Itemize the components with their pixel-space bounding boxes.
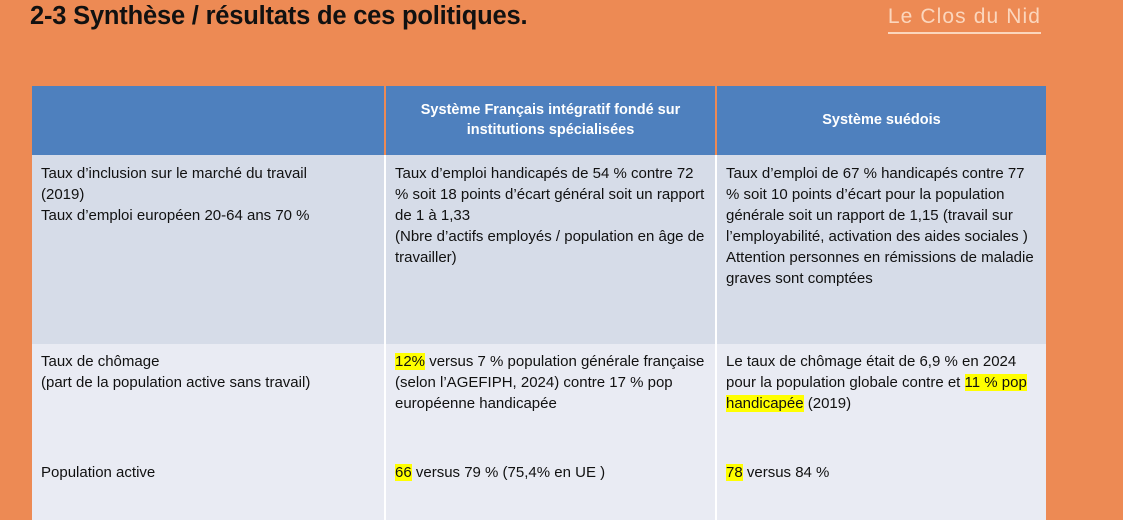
row1-label-line2: (2019) <box>41 184 374 205</box>
row2-french-cell: 12% versus 7 % population générale franç… <box>385 344 716 462</box>
header-cell-criteria <box>32 86 385 155</box>
row2-label-line1: Taux de chômage <box>41 351 374 372</box>
header-french-line2: institutions spécialisées <box>400 121 701 141</box>
row1-swedish-text: Taux d’emploi de 67 % handicapés contre … <box>726 163 1036 247</box>
table-row: Taux de chômage (part de la population a… <box>32 344 1046 462</box>
page-title: 2-3 Synthèse / résultats de ces politiqu… <box>30 2 527 31</box>
logo-text: Le Clos du Nid <box>888 4 1041 30</box>
header-french-line1: Système Français intégratif fondé sur <box>400 101 701 121</box>
row1-french-text: Taux d’emploi handicapés de 54 % contre … <box>395 163 705 226</box>
logo-underline <box>888 32 1041 34</box>
header-cell-swedish-system: Système suédois <box>716 86 1046 155</box>
row2-french-rest: versus 7 % population générale française… <box>395 353 704 412</box>
header-cell-french-system: Système Français intégratif fondé sur in… <box>385 86 716 155</box>
row1-swedish-cell: Taux d’emploi de 67 % handicapés contre … <box>716 155 1046 344</box>
row2-swedish-cell: Le taux de chômage était de 6,9 % en 202… <box>716 344 1046 462</box>
table-header-row: Système Français intégratif fondé sur in… <box>32 86 1046 155</box>
table-row: Taux d’inclusion sur le marché du travai… <box>32 155 1046 344</box>
row2-criteria-cell: Taux de chômage (part de la population a… <box>32 344 385 462</box>
row3-swedish-cell: 78 versus 84 % <box>716 462 1046 520</box>
row1-label-line1: Taux d’inclusion sur le marché du travai… <box>41 163 374 184</box>
table-row: Population active 66 versus 79 % (75,4% … <box>32 462 1046 520</box>
row3-french-cell: 66 versus 79 % (75,4% en UE ) <box>385 462 716 520</box>
row3-swedish-rest: versus 84 % <box>743 464 830 481</box>
row2-label-line2: (part de la population active sans trava… <box>41 372 374 393</box>
row3-label-line1: Population active <box>41 462 374 483</box>
row3-french-highlight: 66 <box>395 464 412 481</box>
row1-criteria-cell: Taux d’inclusion sur le marché du travai… <box>32 155 385 344</box>
row1-french-note: (Nbre d’actifs employés / population en … <box>395 226 705 268</box>
logo: Le Clos du Nid <box>888 4 1041 34</box>
row2-swedish-post: (2019) <box>804 395 852 412</box>
row1-swedish-note: Attention personnes en rémissions de mal… <box>726 247 1036 289</box>
comparison-table: Système Français intégratif fondé sur in… <box>32 86 1046 520</box>
row1-label-line3: Taux d’emploi européen 20-64 ans 70 % <box>41 205 374 226</box>
row3-criteria-cell: Population active <box>32 462 385 520</box>
row3-swedish-highlight: 78 <box>726 464 743 481</box>
row2-french-highlight: 12% <box>395 353 425 370</box>
row1-french-cell: Taux d’emploi handicapés de 54 % contre … <box>385 155 716 344</box>
row3-french-rest: versus 79 % (75,4% en UE ) <box>412 464 605 481</box>
